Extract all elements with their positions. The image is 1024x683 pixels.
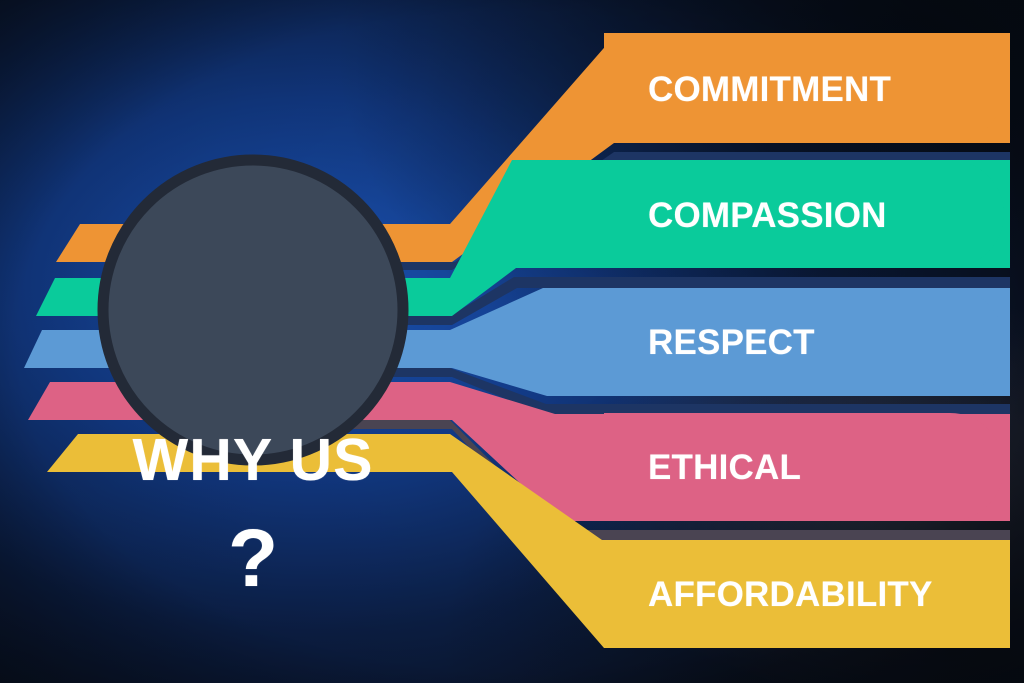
bar-ethical[interactable] xyxy=(604,413,1004,521)
bar-group xyxy=(604,33,1004,648)
bar-affordability[interactable] xyxy=(604,540,1004,648)
center-circle-group[interactable] xyxy=(103,160,403,460)
bar-compassion[interactable] xyxy=(604,160,1004,268)
ribbon-artwork-layer xyxy=(0,0,1024,683)
bar-commitment[interactable] xyxy=(604,33,1004,143)
bar-respect[interactable] xyxy=(604,288,1004,396)
infographic-canvas: WHY US ? COMMITMENT COMPASSION RESPECT E… xyxy=(0,0,1024,683)
center-circle[interactable] xyxy=(103,160,403,460)
